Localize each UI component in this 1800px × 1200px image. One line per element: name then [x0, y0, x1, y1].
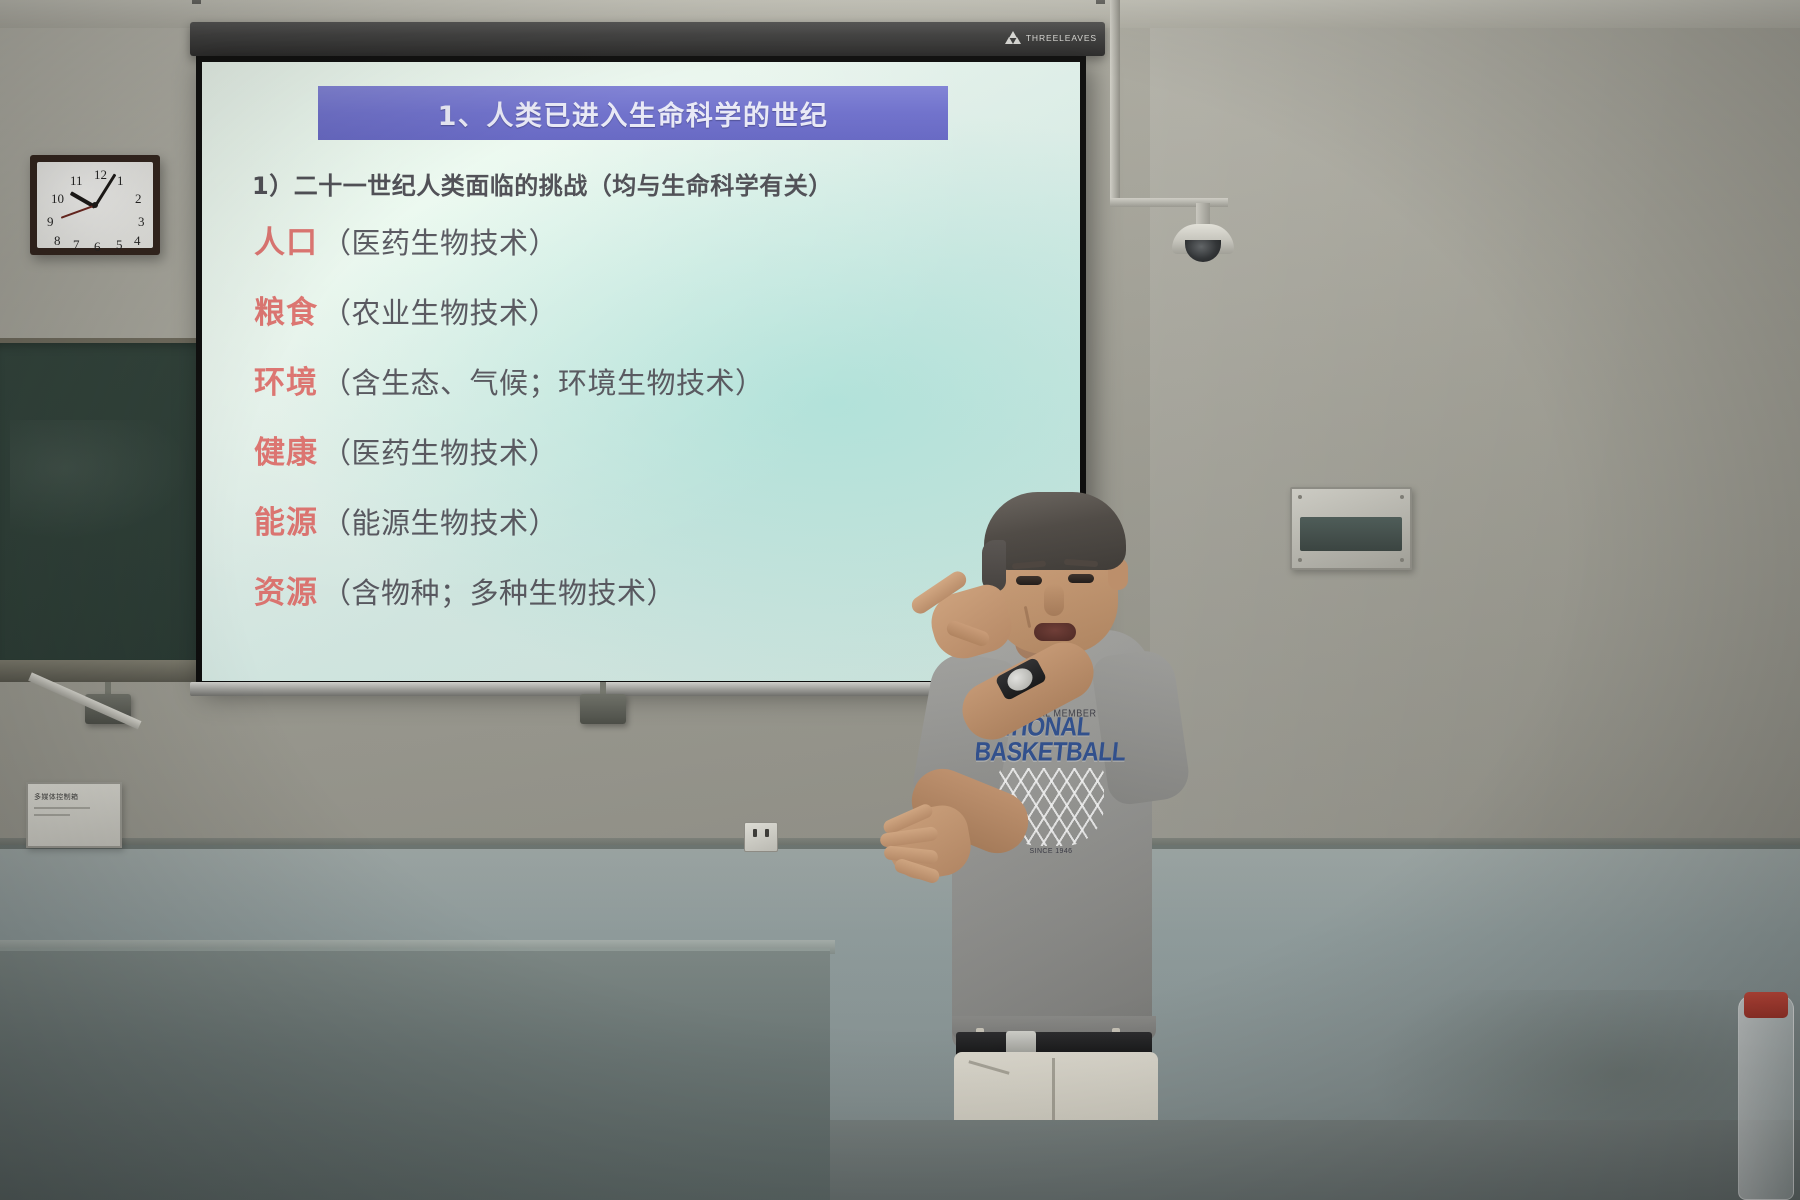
panel-screw [1298, 558, 1302, 562]
clock-numeral-3: 3 [138, 215, 145, 228]
slide-detail: （医药生物技术） [322, 220, 558, 262]
clock-center-pin [92, 202, 98, 208]
clock-numeral-12: 12 [94, 168, 107, 181]
slide-detail: （医药生物技术） [322, 430, 558, 472]
presenter-eye-right [1068, 574, 1094, 583]
presenter-mouth [1034, 623, 1076, 641]
panel-screw [1400, 558, 1404, 562]
projector-screen-housing: THREELEAVES [190, 22, 1105, 56]
slide-detail: （农业生物技术） [322, 290, 558, 332]
slide-detail: （含生态、气候；环境生物技术） [322, 360, 765, 402]
screen-arm-right [1096, 0, 1105, 4]
floor [820, 1120, 1800, 1200]
classroom-scene: 12 1 2 3 4 5 6 7 8 9 10 11 THREELEAVE [0, 0, 1800, 1200]
clock-face: 12 1 2 3 4 5 6 7 8 9 10 11 [37, 162, 153, 248]
clock-numeral-5: 5 [116, 238, 123, 251]
clock-numeral-4: 4 [134, 234, 141, 247]
slide-title: 1、人类已进入生命科学的世纪 [438, 94, 829, 133]
notice-plate-rule [34, 814, 70, 816]
clock-numeral-7: 7 [73, 238, 80, 251]
slide-keyword: 环境 [254, 357, 318, 402]
presenter-eye-left [1016, 576, 1042, 585]
clock-second-hand [61, 205, 95, 219]
three-triangles-logo-icon [1006, 31, 1021, 44]
wall-speaker [580, 694, 626, 724]
notice-plate-title: 多媒体控制箱 [34, 792, 114, 802]
chalk-smear [10, 420, 190, 540]
slide-title-band: 1、人类已进入生命科学的世纪 [318, 86, 948, 140]
slide-keyword: 粮食 [254, 287, 318, 332]
screen-brand-text: THREELEAVES [1026, 33, 1097, 43]
clock-numeral-8: 8 [54, 234, 61, 247]
wall-notice-plate: 多媒体控制箱 [26, 782, 122, 848]
screen-brand: THREELEAVES [1006, 31, 1097, 44]
screen-arm-left [192, 0, 201, 4]
slide-detail: （含物种；多种生物技术） [322, 570, 676, 612]
clock-numeral-9: 9 [47, 215, 54, 228]
wall-conduit-horizontal [1110, 198, 1228, 207]
wall-conduit-vertical [1110, 0, 1120, 206]
clock-numeral-10: 10 [51, 192, 64, 205]
clock-numeral-11: 11 [70, 174, 83, 187]
slide-keyword: 健康 [254, 427, 318, 472]
tshirt-print-sub: SINCE 1946 [1030, 848, 1073, 855]
panel-screw [1400, 495, 1404, 499]
slide-detail: （能源生物技术） [322, 500, 558, 542]
slide-keyword: 资源 [254, 567, 318, 612]
presenter-nose [1044, 584, 1064, 616]
slide-line: 环境 （含生态、气候；环境生物技术） [254, 357, 1054, 427]
slide-keyword: 人口 [254, 217, 318, 262]
desk-front-panel [0, 948, 830, 1200]
slide-subtitle: 1）二十一世纪人类面临的挑战（均与生命科学有关） [252, 166, 1054, 201]
wall-light-sheen [1150, 0, 1800, 862]
notice-plate-rule [34, 807, 90, 809]
wall-control-panel[interactable] [1290, 487, 1412, 570]
wall-clock: 12 1 2 3 4 5 6 7 8 9 10 11 [30, 155, 160, 255]
clock-numeral-1: 1 [117, 174, 124, 187]
panel-display-slot [1300, 517, 1402, 551]
slide-keyword: 能源 [254, 497, 318, 542]
slide-line: 人口 （医药生物技术） [254, 217, 1054, 287]
presenter: OFFICIAL MEMBER NATIONAL BASKETBALL SINC… [880, 480, 1210, 1200]
water-bottle [1738, 995, 1794, 1200]
clock-numeral-6: 6 [94, 240, 101, 253]
water-bottle-cap [1744, 992, 1788, 1018]
slide-line: 粮食 （农业生物技术） [254, 287, 1054, 357]
clock-numeral-2: 2 [135, 192, 142, 205]
power-outlet-icon [744, 822, 778, 852]
panel-screw [1298, 495, 1302, 499]
